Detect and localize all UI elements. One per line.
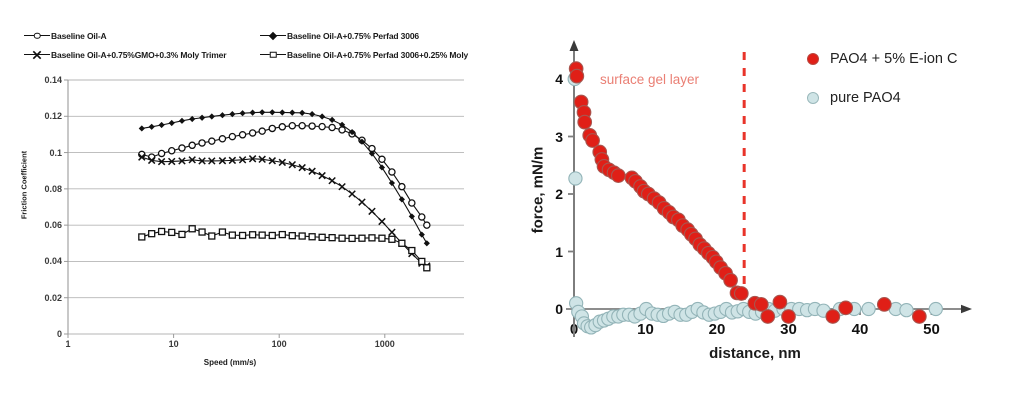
- series-pao4-eion-c: [569, 62, 926, 323]
- series-pure-pao4: [568, 72, 942, 334]
- series-cross-x: [139, 154, 430, 269]
- series-open-circle: [139, 123, 430, 229]
- figure-root: Baseline Oil-A Baseline Oil-A+0.75% Perf…: [0, 0, 1024, 400]
- series-open-square: [139, 226, 430, 271]
- friction-coefficient-chart: Baseline Oil-A Baseline Oil-A+0.75% Perf…: [0, 0, 512, 400]
- right-plot-area: [512, 0, 1024, 400]
- force-distance-chart: PAO4 + 5% E-ion C pure PAO4 surface gel …: [512, 0, 1024, 400]
- left-plot-area: [0, 0, 512, 400]
